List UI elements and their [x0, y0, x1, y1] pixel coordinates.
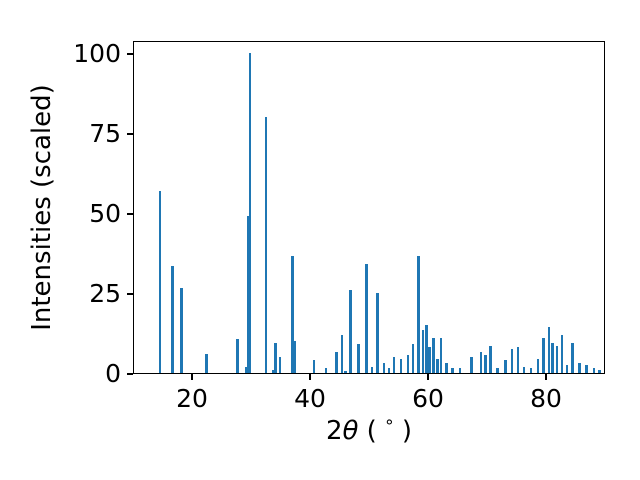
bar	[459, 368, 461, 373]
y-tick-label: 0	[105, 361, 121, 386]
degree-icon: °	[385, 417, 394, 437]
bar	[517, 347, 519, 373]
bar	[393, 357, 395, 373]
x-tick-label: 80	[530, 386, 562, 411]
bar	[470, 357, 472, 373]
x-axis-label: 2θ ( ° )	[133, 416, 605, 446]
x-axis-label-close-paren: )	[394, 416, 412, 446]
bar	[451, 368, 453, 373]
bar	[383, 363, 385, 373]
plot-area	[133, 41, 605, 374]
bar	[445, 363, 447, 373]
bar	[480, 352, 482, 373]
y-tick-label: 100	[73, 41, 121, 66]
bar	[542, 338, 544, 373]
bar	[511, 349, 513, 373]
bar	[436, 359, 438, 373]
bar	[432, 338, 434, 373]
bar	[593, 368, 595, 373]
bar	[265, 117, 267, 373]
bar	[566, 365, 568, 373]
bar	[440, 338, 442, 373]
bar	[205, 354, 207, 373]
bar	[530, 368, 532, 373]
bar	[180, 288, 182, 373]
x-tick-mark	[309, 374, 311, 380]
bar	[561, 335, 563, 373]
bar	[417, 256, 419, 373]
bar	[341, 335, 343, 373]
bar	[249, 53, 251, 373]
bar	[428, 347, 430, 373]
bar	[159, 191, 161, 374]
bar	[598, 370, 600, 373]
bar	[412, 344, 414, 373]
bar	[484, 355, 486, 373]
bar	[371, 367, 373, 373]
bar	[400, 359, 402, 373]
y-tick-mark	[127, 133, 133, 135]
bar	[407, 355, 409, 373]
bar	[236, 339, 238, 373]
bar	[551, 343, 553, 373]
y-tick-mark	[127, 373, 133, 375]
bar	[294, 341, 296, 373]
x-axis-label-open-paren: (	[358, 416, 385, 446]
y-tick-label: 75	[89, 121, 121, 146]
bar	[556, 346, 558, 373]
bar	[578, 363, 580, 373]
y-tick-label: 50	[89, 201, 121, 226]
xrd-pattern-figure: 0255075100 20406080 2θ ( ° ) Intensities…	[0, 0, 640, 480]
x-tick-mark	[191, 374, 193, 380]
bar	[523, 367, 525, 373]
bar	[422, 330, 424, 373]
bar	[325, 368, 327, 373]
x-tick-mark	[427, 374, 429, 380]
bar	[489, 346, 491, 373]
y-tick-mark	[127, 53, 133, 55]
bar	[585, 365, 587, 373]
bar	[548, 327, 550, 373]
y-tick-mark	[127, 293, 133, 295]
bar	[335, 352, 337, 373]
bar	[571, 343, 573, 373]
bar	[376, 293, 378, 373]
bar	[171, 266, 173, 373]
x-tick-mark	[545, 374, 547, 380]
x-tick-label: 40	[294, 386, 326, 411]
bar	[388, 368, 390, 373]
x-axis-label-prefix: 2	[326, 416, 343, 446]
y-tick-label: 25	[89, 281, 121, 306]
bar	[279, 357, 281, 373]
y-axis-label: Intensities (scaled)	[22, 41, 62, 374]
bar	[357, 344, 359, 373]
y-tick-mark	[127, 213, 133, 215]
bar	[425, 325, 427, 373]
x-tick-label: 20	[176, 386, 208, 411]
bar	[349, 290, 351, 373]
x-axis-label-theta: θ	[343, 416, 359, 446]
x-tick-label: 60	[412, 386, 444, 411]
bar	[496, 368, 498, 373]
bar	[313, 360, 315, 373]
bar	[365, 264, 367, 373]
bar	[344, 371, 346, 373]
bar-series-intensities	[134, 42, 604, 373]
bar	[274, 343, 276, 373]
bar	[537, 359, 539, 373]
bar	[504, 360, 506, 373]
